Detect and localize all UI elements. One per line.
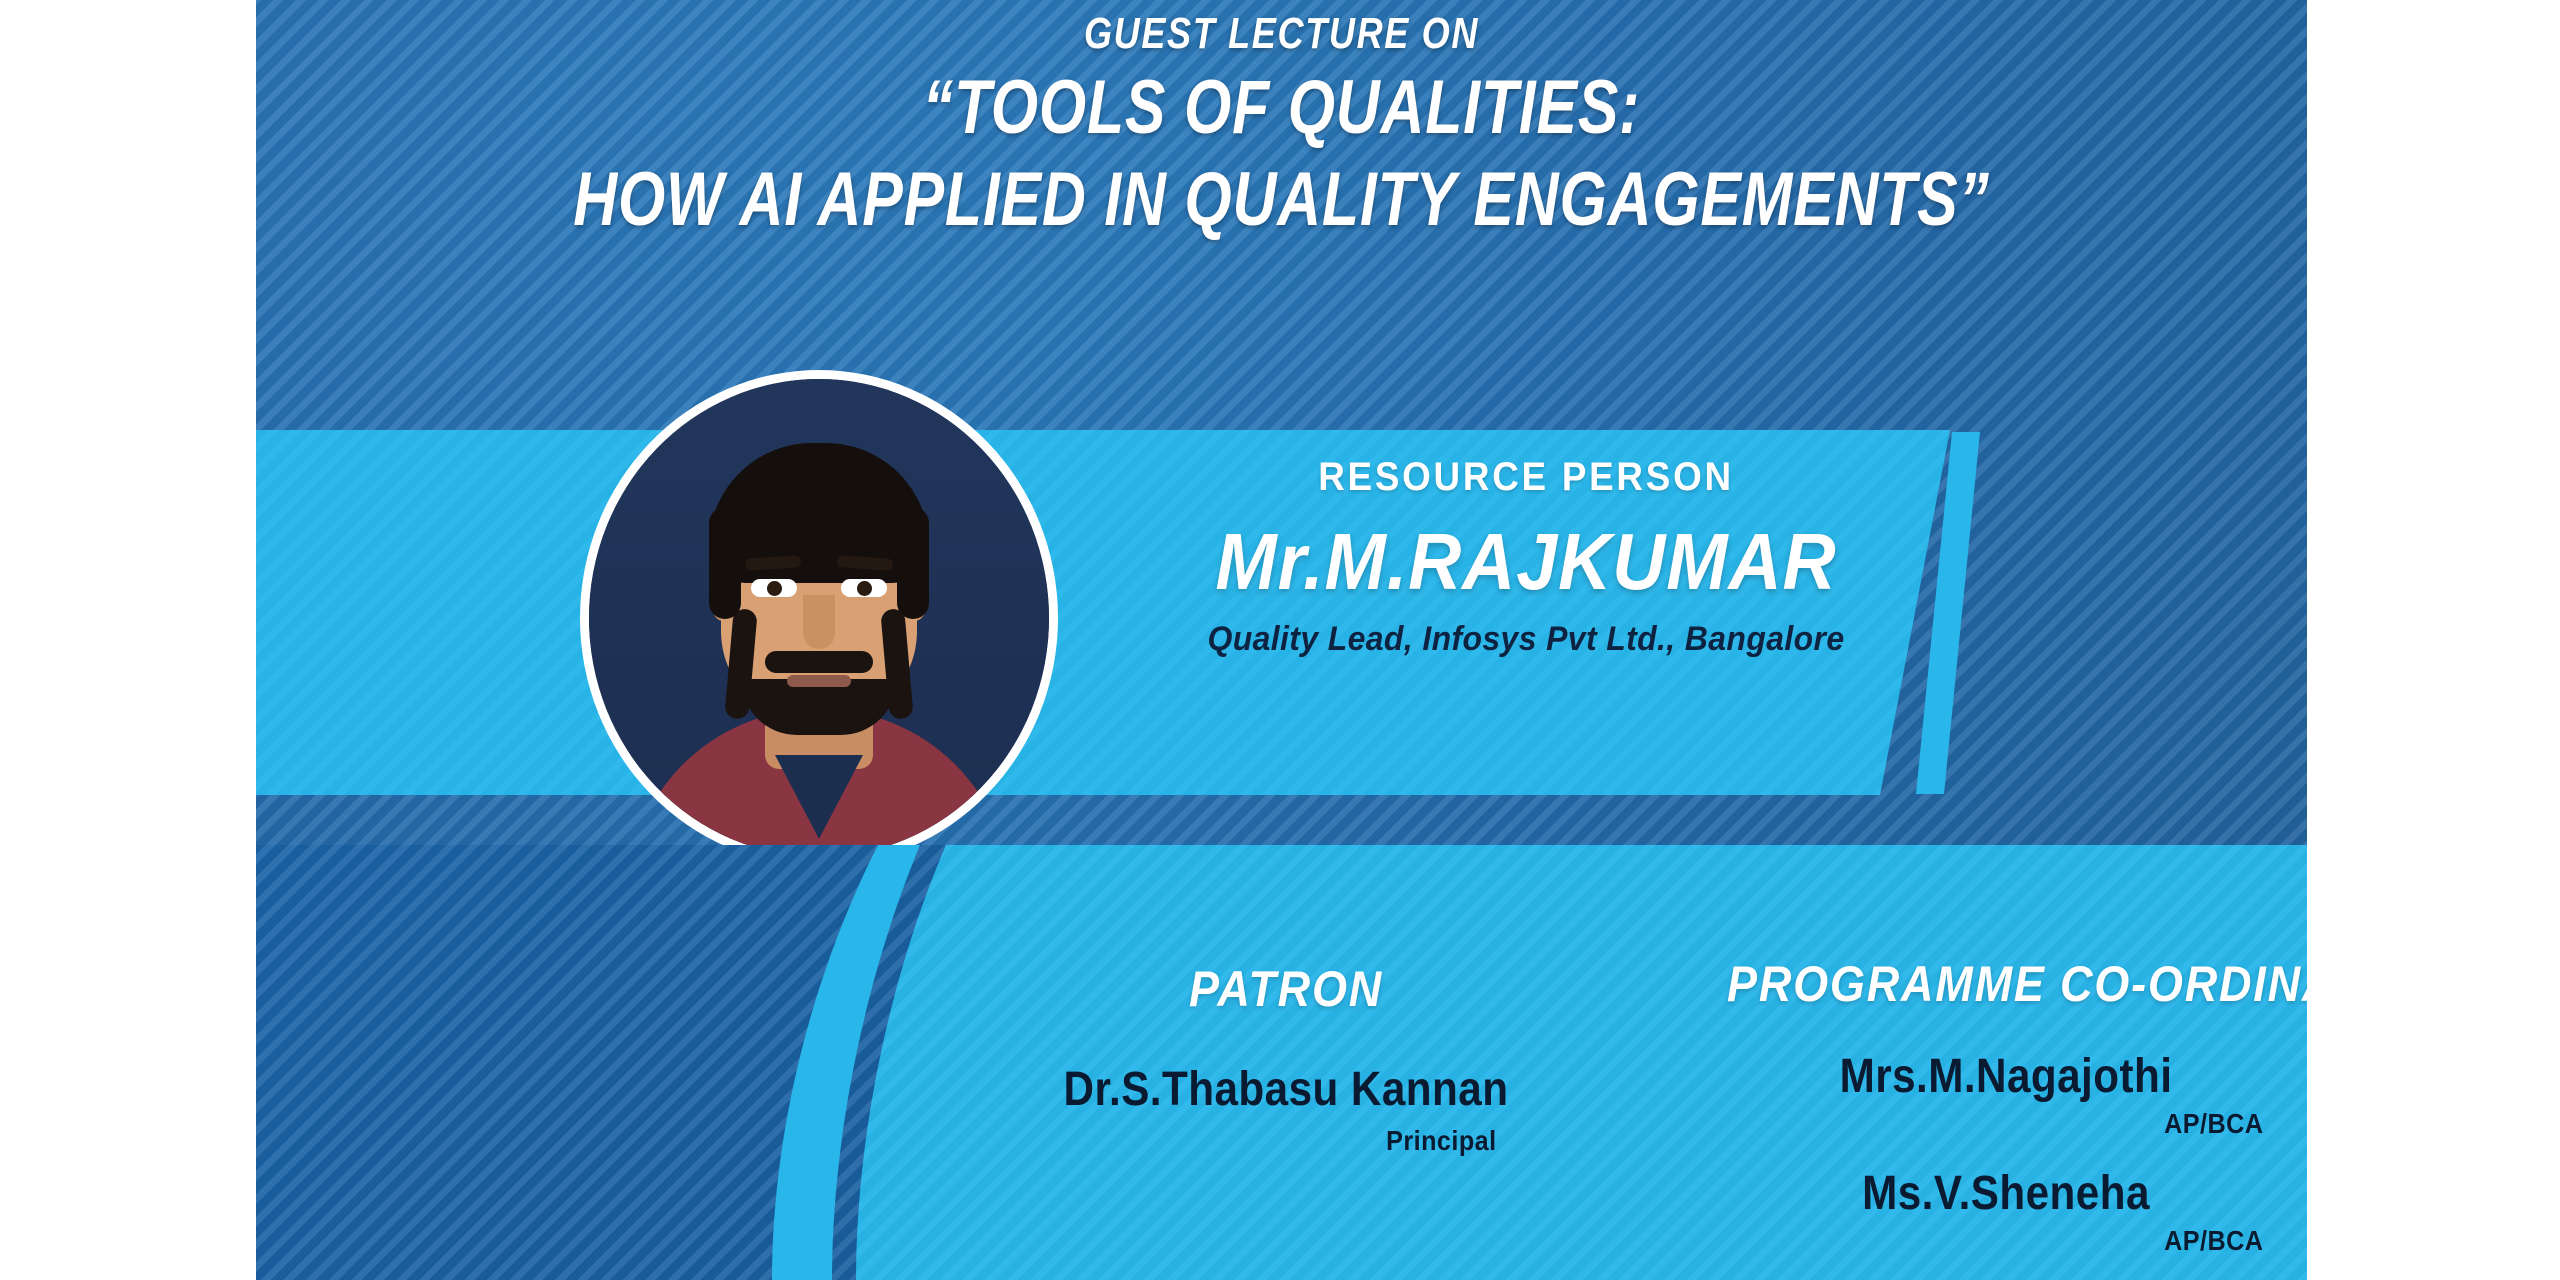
poster-canvas: GUEST LECTURE ON “TOOLS OF QUALITIES: HO… [0, 0, 2560, 1280]
headline-line-1: “TOOLS OF QUALITIES: [461, 70, 2102, 146]
patron-designation: Principal [1007, 1125, 1565, 1157]
coordinators-heading: PROGRAMME CO-ORDINATORS [1727, 955, 2285, 1013]
patron-name: Dr.S.Thabasu Kannan [1013, 1062, 1559, 1117]
patron-heading: PATRON [1007, 960, 1565, 1018]
coordinators-column: PROGRAMME CO-ORDINATORS Mrs.M.Nagajothi … [1696, 955, 2307, 1257]
guest-lecture-poster: GUEST LECTURE ON “TOOLS OF QUALITIES: HO… [256, 0, 2307, 1280]
headline-line-2: HOW AI APPLIED IN QUALITY ENGAGEMENTS” [461, 162, 2102, 238]
coordinator-name: Ms.V.Sheneha [1733, 1166, 2279, 1221]
resource-person-name: Mr.M.RAJKUMAR [1186, 516, 1867, 608]
patron-column: PATRON Dr.S.Thabasu Kannan Principal [976, 960, 1596, 1157]
speaker-details: RESOURCE PERSON Mr.M.RAJKUMAR Quality Le… [1156, 455, 1896, 659]
portrait-photo [589, 379, 1049, 857]
speaker-portrait [580, 370, 1058, 866]
resource-person-label: RESOURCE PERSON [1186, 455, 1867, 500]
coordinator-designation: AP/BCA [1727, 1225, 2285, 1257]
resource-person-affiliation: Quality Lead, Infosys Pvt Ltd., Bangalor… [1178, 620, 1874, 659]
headline-block: GUEST LECTURE ON “TOOLS OF QUALITIES: HO… [256, 0, 2307, 238]
headline-kicker: GUEST LECTURE ON [441, 12, 2123, 56]
coordinator-name: Mrs.M.Nagajothi [1733, 1049, 2279, 1104]
coordinator-designation: AP/BCA [1727, 1108, 2285, 1140]
